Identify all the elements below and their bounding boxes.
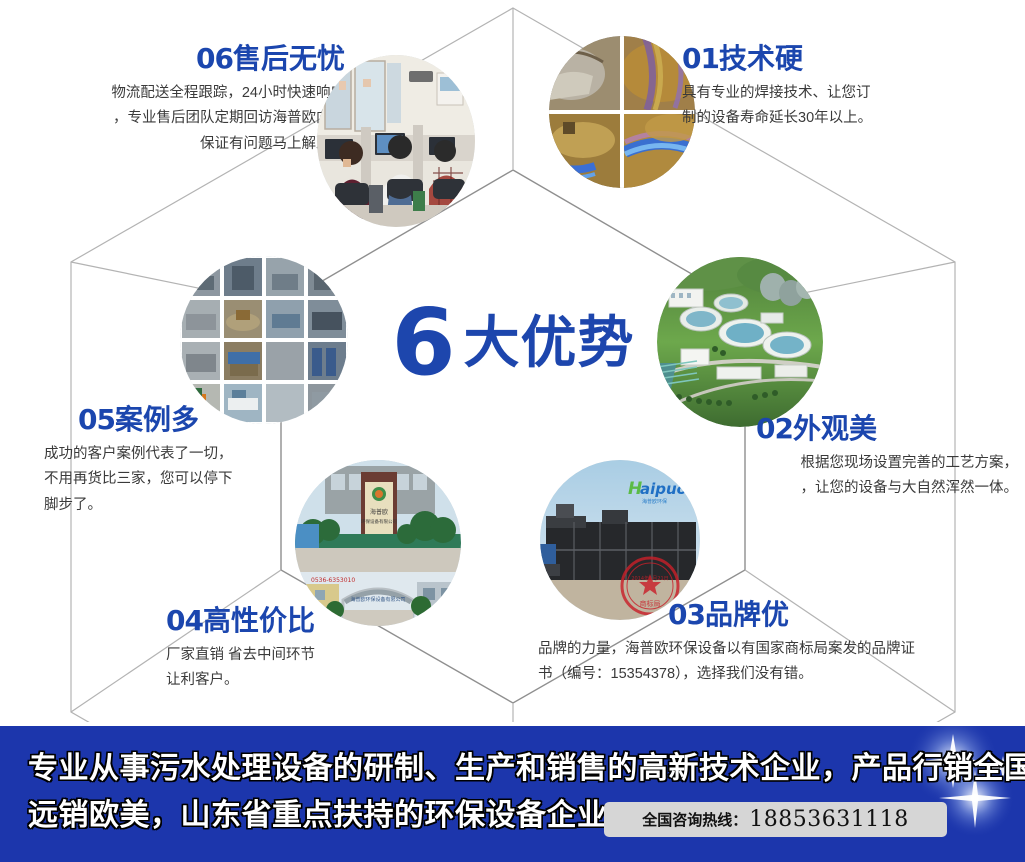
feature-04: 04高性价比 厂家直销 省去中间环节 让利客户。	[118, 606, 438, 694]
feature-05-line-3: 脚步了。	[44, 493, 334, 518]
feature-01-line-1: 具有专业的焊接技术、让您订	[682, 81, 1012, 106]
feature-02: 02外观美 根据您现场设置完善的工艺方案， ，让您的设备与大自然浑然一体。	[636, 414, 1018, 502]
feature-01-number: 01	[682, 42, 719, 75]
infographic-canvas: 6 大优势 06售后无忧 物流配送全程跟踪，24小时快速响应 ，专业售后团队定期…	[0, 0, 1025, 862]
office-staff-photo	[317, 55, 475, 227]
feature-04-title: 高性价比	[203, 605, 315, 636]
svg-text:0536-6353010: 0536-6353010	[311, 577, 355, 584]
feature-05-line-1: 成功的客户案例代表了一切，	[44, 442, 334, 467]
feature-04-heading: 04高性价比	[166, 606, 438, 637]
banner-line-1: 专业从事污水处理设备的研制、生产和销售的高新技术企业，产品行销全国并	[28, 746, 908, 793]
feature-03-line-2: 书（编号：15354378），选择我们没有错。	[538, 662, 1008, 687]
feature-03-heading: 03品牌优	[668, 600, 1008, 631]
feature-03-line-1: 品牌的力量，海普欧环保设备以有国家商标局案发的品牌证	[538, 637, 1008, 662]
svg-text:海普欧环保: 海普欧环保	[642, 498, 667, 505]
wastewater-plant-aerial-photo	[657, 257, 823, 427]
feature-01: 01技术硬 具有专业的焊接技术、让您订 制的设备寿命延长30年以上。	[682, 44, 1012, 132]
feature-04-number: 04	[166, 604, 203, 637]
feature-04-line-2: 让利客户。	[166, 668, 438, 693]
feature-06-body: 物流配送全程跟踪，24小时快速响应 ，专业售后团队定期回访海普欧向您 保证有问题…	[20, 81, 345, 157]
feature-06-line-2: ，专业售后团队定期回访海普欧向您	[20, 106, 345, 131]
equipment-brand-photo: aipuou H 海普欧环保 商标局 2014年1月21日	[540, 460, 700, 620]
svg-text:海普欧: 海普欧	[370, 508, 388, 516]
feature-03: 03品牌优 品牌的力量，海普欧环保设备以有国家商标局案发的品牌证 书（编号：15…	[538, 600, 1008, 688]
feature-01-body: 具有专业的焊接技术、让您订 制的设备寿命延长30年以上。	[682, 81, 1012, 132]
feature-03-body: 品牌的力量，海普欧环保设备以有国家商标局案发的品牌证 书（编号：15354378…	[538, 637, 1008, 688]
feature-01-title: 技术硬	[719, 43, 803, 74]
feature-06-number: 06	[196, 42, 233, 75]
svg-text:环保设备有限公司: 环保设备有限公司	[361, 518, 397, 525]
feature-04-line-1: 厂家直销 省去中间环节	[166, 643, 438, 668]
svg-text:海普欧环保设备有限公司: 海普欧环保设备有限公司	[350, 596, 405, 603]
hotline-box[interactable]: 全国咨询热线： 18853631118	[604, 802, 947, 837]
feature-04-body: 厂家直销 省去中间环节 让利客户。	[166, 643, 438, 694]
center-number: 6	[391, 297, 453, 389]
feature-05-title: 案例多	[115, 404, 199, 435]
svg-text:H: H	[628, 479, 642, 499]
feature-02-title: 外观美	[793, 413, 877, 444]
welding-pipes-photo	[549, 36, 695, 188]
bottom-banner: 专业从事污水处理设备的研制、生产和销售的高新技术企业，产品行销全国并 远销欧美，…	[0, 726, 1025, 862]
center-title: 6 大优势	[378, 288, 648, 398]
center-word: 大优势	[464, 315, 635, 371]
feature-02-body: 根据您现场设置完善的工艺方案， ，让您的设备与大自然浑然一体。	[636, 451, 1018, 502]
feature-02-heading: 02外观美	[756, 414, 1018, 445]
feature-06-title: 售后无忧	[233, 43, 345, 74]
hotline-label: 全国咨询热线：	[642, 809, 747, 830]
feature-02-number: 02	[756, 412, 793, 445]
feature-06: 06售后无忧 物流配送全程跟踪，24小时快速响应 ，专业售后团队定期回访海普欧向…	[20, 44, 345, 157]
feature-06-heading: 06售后无忧	[20, 44, 345, 75]
feature-05-line-2: 不用再货比三家，您可以停下	[44, 467, 334, 492]
case-collage-photo	[180, 256, 348, 424]
feature-05-body: 成功的客户案例代表了一切， 不用再货比三家，您可以停下 脚步了。	[44, 442, 334, 518]
feature-01-line-2: 制的设备寿命延长30年以上。	[682, 106, 1012, 131]
svg-text:2014年1月21日: 2014年1月21日	[631, 575, 668, 582]
feature-03-title: 品牌优	[705, 599, 789, 630]
hotline-number: 18853631118	[749, 807, 908, 832]
feature-05-heading: 05案例多	[78, 405, 334, 436]
feature-03-number: 03	[668, 598, 705, 631]
feature-05: 05案例多 成功的客户案例代表了一切， 不用再货比三家，您可以停下 脚步了。	[34, 405, 334, 518]
feature-05-number: 05	[78, 403, 115, 436]
feature-02-line-1: 根据您现场设置完善的工艺方案，	[636, 451, 1018, 476]
feature-06-line-1: 物流配送全程跟踪，24小时快速响应	[20, 81, 345, 106]
feature-02-line-2: ，让您的设备与大自然浑然一体。	[636, 476, 1018, 501]
feature-06-line-3: 保证有问题马上解决。	[20, 132, 345, 157]
feature-01-heading: 01技术硬	[682, 44, 1012, 75]
